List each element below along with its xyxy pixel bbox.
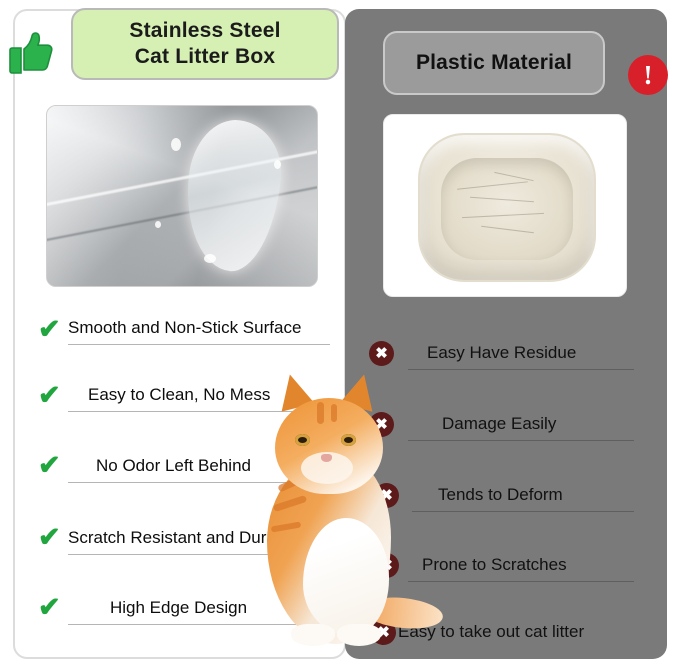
left-feature-3-label: No Odor Left Behind	[96, 456, 251, 476]
exclamation-icon: !	[628, 55, 668, 95]
cat-front-paw-right	[337, 624, 381, 646]
left-title-line-1: Stainless Steel	[129, 18, 280, 44]
cat-chest	[303, 518, 389, 636]
cat-forehead-stripe	[317, 402, 324, 424]
left-feature-1: Smooth and Non-Stick Surface	[68, 318, 301, 338]
scratch-mark	[494, 172, 533, 181]
comparison-infographic: ! Stainless Steel Cat Litter Box Plastic…	[0, 0, 679, 671]
plastic-tray-shape	[418, 133, 596, 282]
cat-forehead-stripe	[331, 404, 337, 422]
plastic-tray-interior	[441, 158, 573, 259]
right-feature-3-underline	[412, 511, 634, 512]
check-icon: ✔	[38, 594, 61, 621]
scratch-mark	[457, 181, 528, 189]
stainless-steel-product-image	[46, 105, 318, 287]
orange-tabby-cat-image	[233, 368, 445, 660]
right-feature-2: Damage Easily	[442, 414, 556, 434]
left-panel-title: Stainless Steel Cat Litter Box	[71, 8, 339, 80]
cat-nose	[321, 454, 332, 462]
x-icon: ✖	[369, 341, 394, 366]
right-feature-3: Tends to Deform	[438, 485, 563, 505]
left-feature-5-label: High Edge Design	[110, 598, 247, 618]
left-feature-5: High Edge Design	[110, 598, 247, 618]
right-feature-1-label: Easy Have Residue	[427, 343, 576, 363]
left-feature-1-underline	[68, 344, 330, 345]
check-icon: ✔	[38, 452, 61, 479]
cat-eye-left	[295, 434, 310, 446]
scratch-mark	[470, 197, 533, 202]
cat-front-paw-left	[291, 624, 335, 646]
left-feature-1-label: Smooth and Non-Stick Surface	[68, 318, 301, 338]
check-icon: ✔	[38, 382, 61, 409]
right-feature-3-label: Tends to Deform	[438, 485, 563, 505]
right-panel-title: Plastic Material	[383, 31, 605, 95]
left-title-line-2: Cat Litter Box	[129, 44, 280, 70]
plastic-product-image	[383, 114, 627, 297]
cat-eye-right	[341, 434, 356, 446]
water-droplet	[274, 160, 281, 169]
check-icon: ✔	[38, 316, 61, 343]
thumbs-up-icon	[8, 28, 54, 78]
water-droplet	[204, 254, 216, 263]
right-feature-2-label: Damage Easily	[442, 414, 556, 434]
scratch-mark	[481, 226, 534, 233]
check-icon: ✔	[38, 524, 61, 551]
left-feature-3: No Odor Left Behind	[96, 456, 251, 476]
scratch-mark	[462, 213, 544, 218]
right-feature-1: Easy Have Residue	[427, 343, 576, 363]
